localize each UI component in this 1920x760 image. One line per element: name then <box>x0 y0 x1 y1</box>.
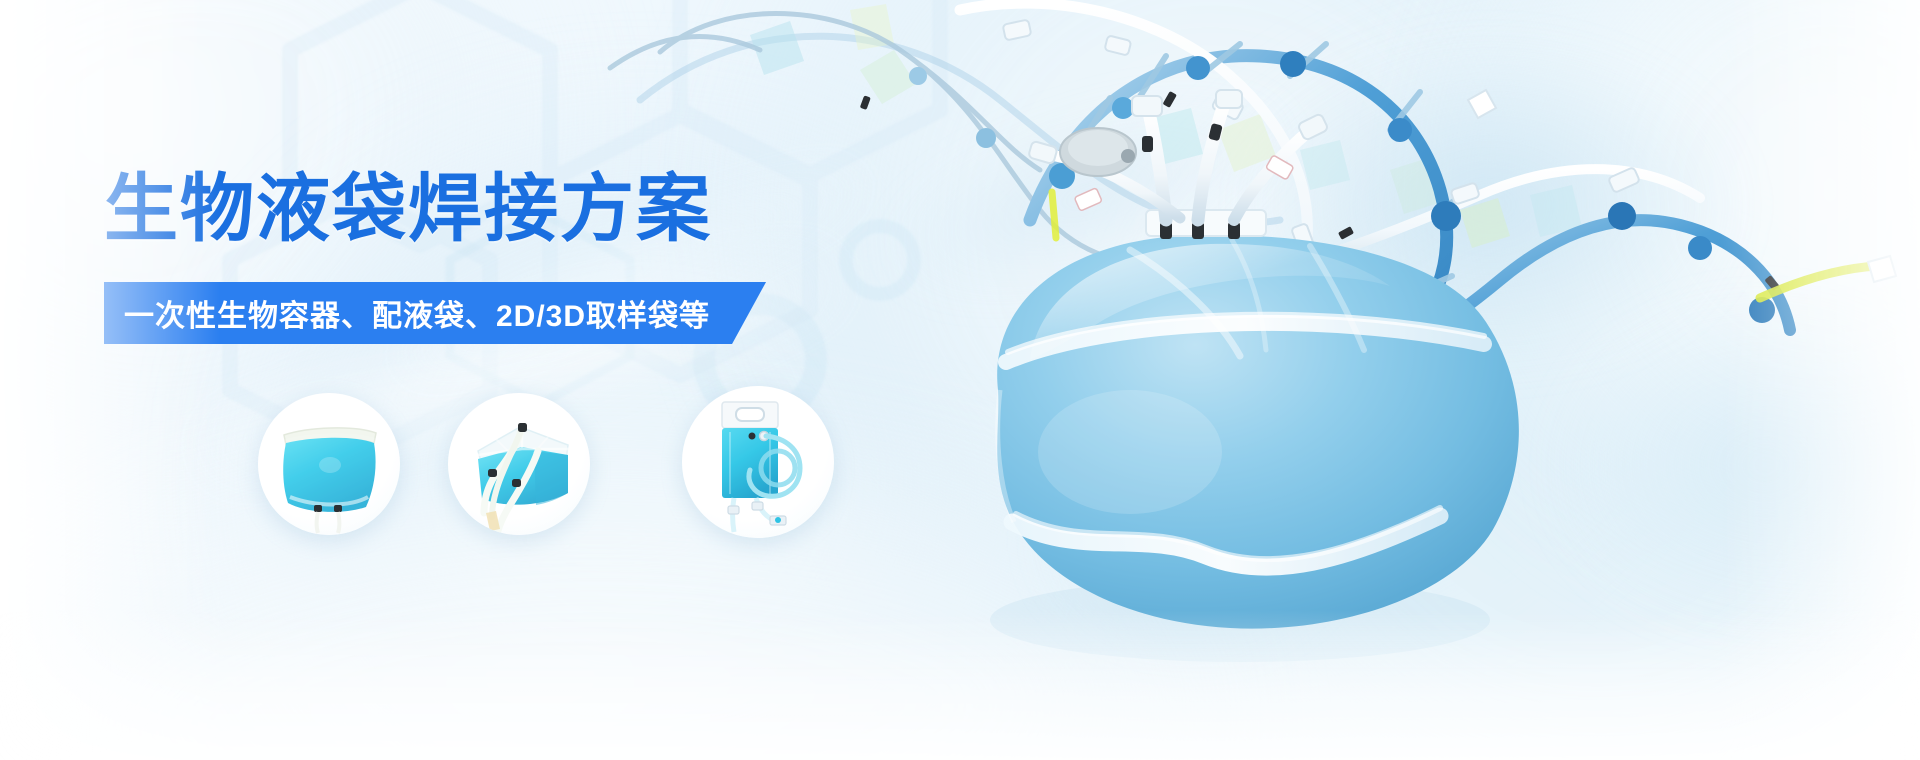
right-edge-fade <box>1720 0 1920 760</box>
pillow-bag-icon <box>258 393 400 535</box>
thumbnail-sampling-bag[interactable] <box>682 386 834 538</box>
thumbnail-row <box>0 0 900 760</box>
thumbnail-2d-bag[interactable] <box>258 393 400 535</box>
sampling-bag-icon <box>682 386 834 538</box>
hero-banner: 生物液袋焊接方案 一次性生物容器、配液袋、2D/3D取样袋等 <box>0 0 1920 760</box>
cube-bag-icon <box>448 393 590 535</box>
hero-product-bioprocess-bag <box>880 60 1660 760</box>
thumbnail-3d-bag[interactable] <box>448 393 590 535</box>
